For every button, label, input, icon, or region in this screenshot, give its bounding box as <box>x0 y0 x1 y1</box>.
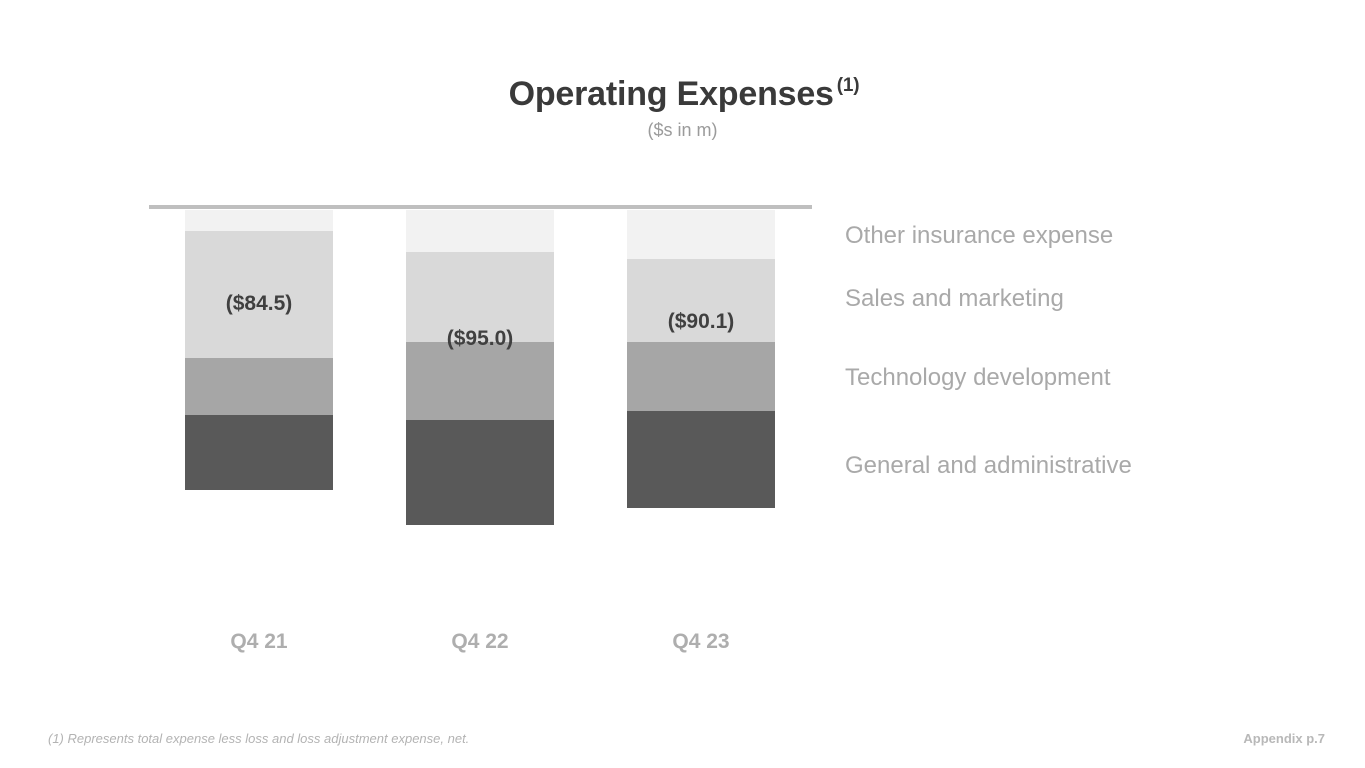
legend-item[interactable]: Sales and marketing <box>845 287 1064 311</box>
stacked-bar-chart: ($84.5)Q4 21($95.0)Q4 22($90.1)Q4 23 <box>0 0 1365 768</box>
bar-segment[interactable] <box>185 415 333 490</box>
bar-total-label: ($90.1) <box>597 310 805 334</box>
category-label: Q4 21 <box>155 630 363 654</box>
bar-segment[interactable] <box>185 210 333 231</box>
slide-canvas: Operating Expenses(1) ($s in m) ($84.5)Q… <box>0 0 1365 768</box>
bar-segment[interactable] <box>627 210 775 259</box>
chart-top-rule <box>149 205 812 209</box>
bar-segment[interactable] <box>406 420 554 525</box>
bar-segment[interactable] <box>627 342 775 411</box>
bar-total-label: ($95.0) <box>376 327 584 351</box>
bar-segment[interactable] <box>406 210 554 252</box>
bar-total-label: ($84.5) <box>155 292 363 316</box>
category-label: Q4 23 <box>597 630 805 654</box>
legend-item[interactable]: General and administrative <box>845 454 1132 478</box>
legend-item[interactable]: Technology development <box>845 366 1111 390</box>
footnote: (1) Represents total expense less loss a… <box>48 731 469 746</box>
bar-stack[interactable] <box>185 210 333 490</box>
bar-stack[interactable] <box>406 210 554 525</box>
bar-segment[interactable] <box>627 411 775 508</box>
legend-item[interactable]: Other insurance expense <box>845 224 1113 248</box>
bar-segment[interactable] <box>406 342 554 420</box>
category-label: Q4 22 <box>376 630 584 654</box>
page-reference: Appendix p.7 <box>1243 731 1325 746</box>
bar-stack[interactable] <box>627 210 775 508</box>
bar-segment[interactable] <box>185 358 333 415</box>
